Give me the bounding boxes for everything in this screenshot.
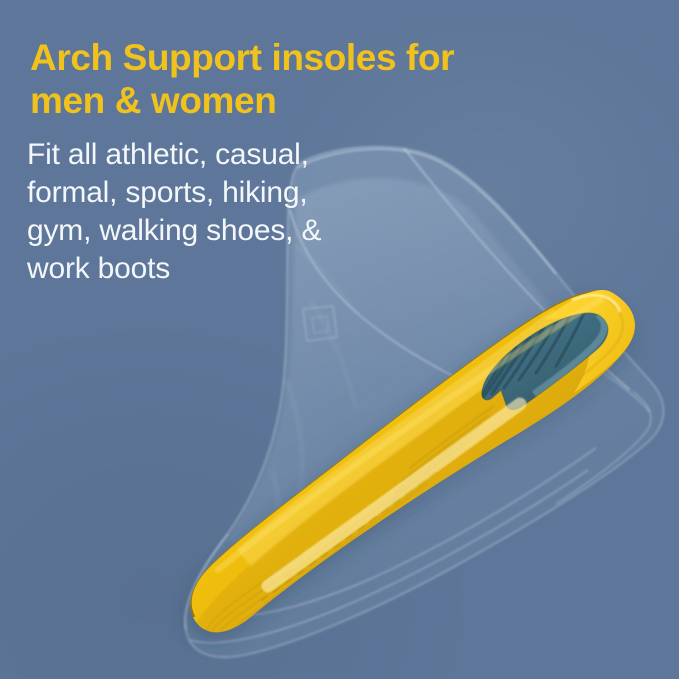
subcopy: Fit all athletic, casual, formal, sports…	[27, 136, 427, 288]
ghost-shoe-sole-edge	[185, 448, 596, 643]
ghost-shoe-heel-seam	[556, 372, 651, 504]
insole-heel-rim	[544, 290, 635, 393]
product-ad-canvas: Arch Support insoles for men & women Fit…	[0, 0, 679, 679]
heel-pad-grooves	[477, 309, 586, 403]
insole-shading	[190, 290, 650, 660]
insole-with-shadow	[190, 290, 650, 660]
insole-rim-crease	[574, 297, 623, 382]
ghost-shoe-logo-patch	[303, 306, 337, 341]
insole-rim-highlight	[572, 295, 620, 312]
insole-texture-grooves	[207, 300, 600, 645]
headline: Arch Support insoles for men & women	[30, 36, 570, 122]
ghost-shoe-creases	[264, 246, 356, 562]
heel-gel-pad	[477, 309, 608, 410]
insole-body	[190, 290, 635, 632]
heel-pad-sheen	[492, 314, 604, 394]
